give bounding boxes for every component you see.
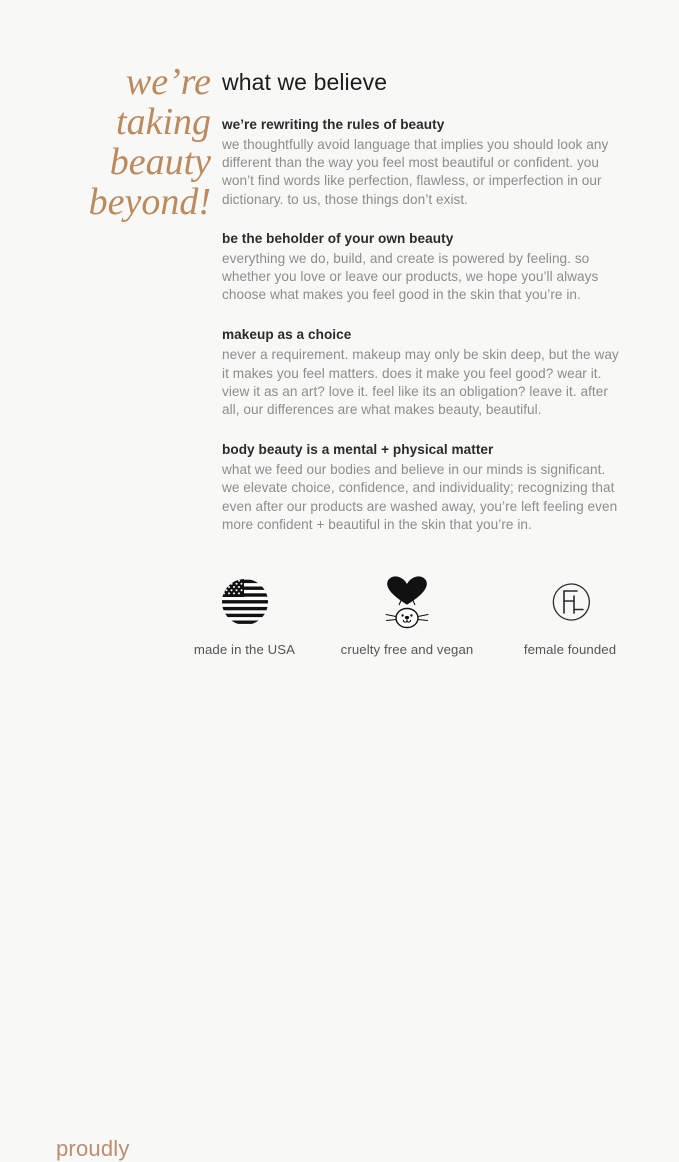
badge-label: cruelty free and vegan [322, 642, 492, 658]
badge-cruelty-free: cruelty free and vegan [322, 573, 492, 658]
belief-block-body-beauty: body beauty is a mental + physical matte… [222, 441, 622, 534]
block-body: everything we do, build, and create is p… [222, 250, 622, 305]
badges-row: proudly [0, 560, 679, 670]
block-heading: makeup as a choice [222, 326, 622, 344]
badge-female-founded: female founded [496, 573, 644, 658]
page-title: what we believe [222, 68, 622, 96]
headline-line-1: we’re [0, 62, 211, 102]
female-founded-monogram-icon [496, 573, 644, 631]
block-heading: be the beholder of your own beauty [222, 230, 622, 248]
usa-flag-circle-icon [169, 573, 320, 631]
headline-line-4: beyond! [0, 182, 211, 222]
badge-made-in-usa: made in the USA [169, 573, 320, 658]
headline-line-2: taking [0, 102, 211, 142]
proudly-label: proudly [56, 1136, 130, 1162]
bunny-heart-ears-icon [322, 573, 492, 631]
belief-block-rewriting-rules: we’re rewriting the rules of beauty we t… [222, 116, 622, 209]
block-body: we thoughtfully avoid language that impl… [222, 136, 622, 209]
belief-block-beholder: be the beholder of your own beauty every… [222, 230, 622, 305]
belief-statement-page: we’re taking beauty beyond! what we beli… [0, 0, 679, 679]
belief-block-makeup-choice: makeup as a choice never a requirement. … [222, 326, 622, 419]
belief-content: what we believe we’re rewriting the rule… [222, 68, 622, 534]
brand-headline: we’re taking beauty beyond! [0, 62, 211, 222]
block-body: never a requirement. makeup may only be … [222, 346, 622, 419]
badge-label: made in the USA [169, 642, 320, 658]
block-heading: we’re rewriting the rules of beauty [222, 116, 622, 134]
block-body: what we feed our bodies and believe in o… [222, 461, 622, 534]
headline-line-3: beauty [0, 142, 211, 182]
block-heading: body beauty is a mental + physical matte… [222, 441, 622, 459]
badge-label: female founded [496, 642, 644, 658]
